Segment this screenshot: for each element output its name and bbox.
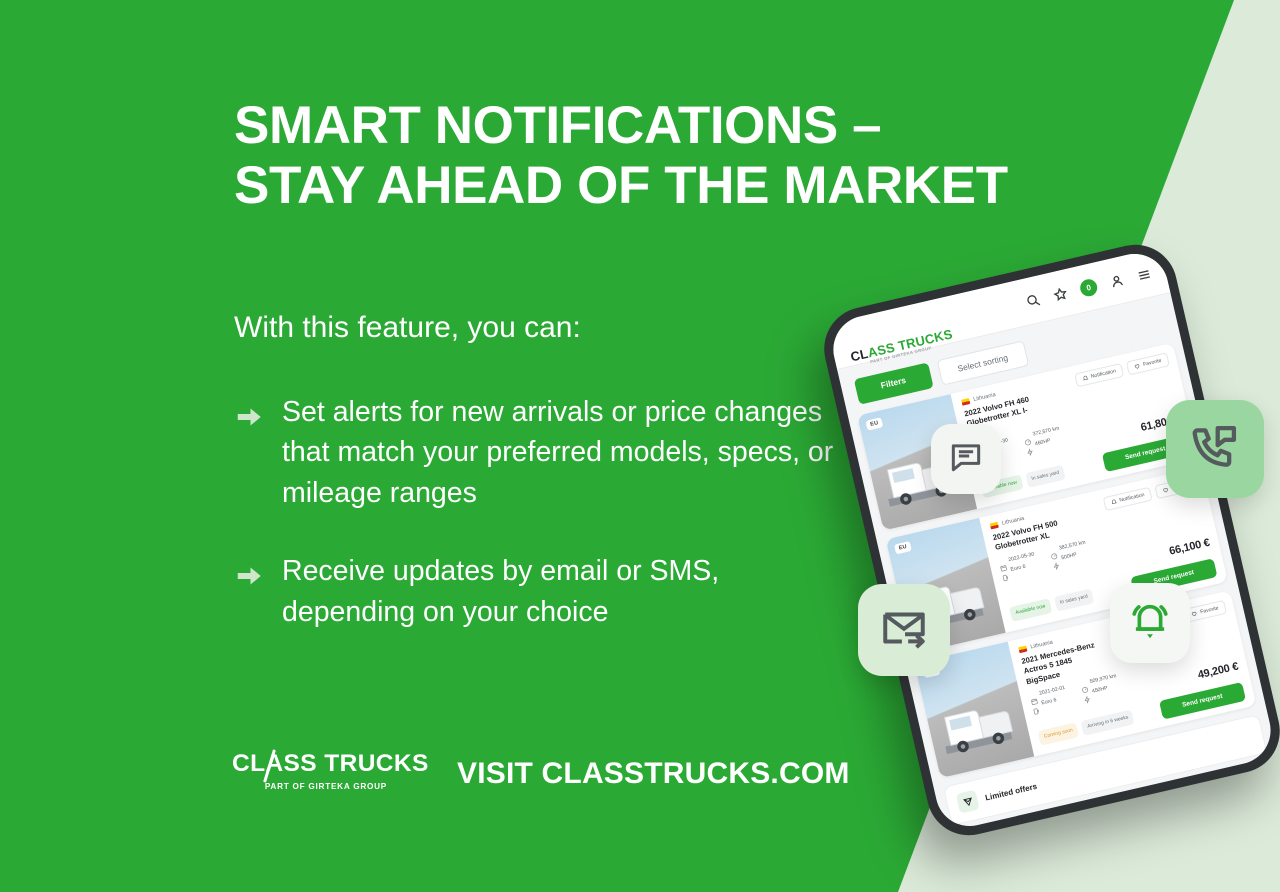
profile-icon[interactable] bbox=[1108, 272, 1126, 290]
location-badge: In sales yard bbox=[1025, 465, 1066, 488]
footer: CLASS TRUCKS PART OF GIRTEKA GROUP VISIT… bbox=[232, 752, 850, 796]
cart-badge[interactable]: 0 bbox=[1078, 277, 1098, 297]
power-icon bbox=[1051, 556, 1059, 564]
phone-call-icon bbox=[1188, 420, 1242, 479]
listing-country: Lithuania bbox=[1030, 640, 1053, 651]
headline-line-1: SMART NOTIFICATIONS – bbox=[234, 96, 881, 155]
country-flag-icon bbox=[961, 398, 970, 406]
truck-illustration bbox=[928, 688, 1025, 764]
bullet-text: Set alerts for new arrivals or price cha… bbox=[282, 392, 854, 513]
lead-text: With this feature, you can: bbox=[234, 308, 581, 347]
favorites-star-icon[interactable] bbox=[1051, 285, 1069, 303]
image-tag: EU bbox=[865, 417, 883, 430]
chip-label: Favorite bbox=[1143, 358, 1163, 368]
sms-chat-icon bbox=[947, 438, 985, 481]
heart-icon bbox=[1162, 486, 1169, 493]
heart-icon bbox=[1191, 610, 1198, 617]
email-send-icon bbox=[879, 603, 929, 658]
odometer-icon bbox=[1022, 432, 1030, 440]
chip-label: Favorite bbox=[1200, 605, 1220, 615]
fuel-icon bbox=[1031, 701, 1039, 709]
list-item: Receive updates by email or SMS, dependi… bbox=[234, 551, 854, 632]
send-request-button[interactable]: Send request bbox=[1159, 682, 1246, 720]
notification-chip[interactable]: Notification bbox=[1102, 487, 1153, 512]
search-icon[interactable] bbox=[1024, 291, 1042, 309]
bell-icon bbox=[1081, 375, 1088, 382]
chip-label: Notification bbox=[1090, 368, 1116, 380]
arrival-badge: Arriving in 6 weeks bbox=[1081, 710, 1135, 736]
bullet-list: Set alerts for new arrivals or price cha… bbox=[234, 392, 854, 632]
notification-chip[interactable]: Notification bbox=[1074, 363, 1125, 388]
odometer-icon bbox=[1079, 680, 1087, 688]
spec-value: 450HP bbox=[1092, 685, 1109, 695]
logo-wordmark: CLASS TRUCKS bbox=[232, 752, 387, 777]
spec-value: Euro 6 bbox=[1041, 697, 1057, 707]
listing-price: 49,200 € bbox=[1197, 661, 1240, 682]
image-tag: EU bbox=[894, 541, 912, 554]
promo-banner: SMART NOTIFICATIONS – STAY AHEAD OF THE … bbox=[0, 0, 1280, 892]
arrow-right-icon bbox=[234, 402, 264, 432]
country-flag-icon bbox=[990, 522, 999, 530]
list-item: Set alerts for new arrivals or price cha… bbox=[234, 392, 854, 513]
hamburger-menu-icon[interactable] bbox=[1135, 265, 1153, 283]
filters-button[interactable]: Filters bbox=[854, 362, 933, 404]
listing-country: Lithuania bbox=[1001, 516, 1024, 527]
notification-bell-icon bbox=[1128, 599, 1172, 648]
calendar-icon bbox=[998, 558, 1006, 566]
phone-call-tile bbox=[1166, 400, 1264, 498]
availability-badge: Available now bbox=[1009, 599, 1052, 622]
location-badge: In sales yard bbox=[1054, 589, 1095, 612]
power-icon bbox=[1082, 689, 1090, 697]
spec-value: 500HP bbox=[1061, 552, 1078, 562]
spec-value: 460HP bbox=[1034, 438, 1051, 448]
calendar-icon bbox=[1029, 691, 1037, 699]
bell-icon bbox=[1110, 499, 1117, 506]
odometer-icon bbox=[1049, 546, 1057, 554]
visit-url-text: VISIT CLASSTRUCKS.COM bbox=[457, 757, 850, 791]
page-title: SMART NOTIFICATIONS – STAY AHEAD OF THE … bbox=[234, 96, 1034, 217]
fuel-icon bbox=[1000, 567, 1008, 575]
listing-country: Lithuania bbox=[973, 392, 996, 403]
notification-bell-tile bbox=[1110, 583, 1190, 663]
logo-tagline: PART OF GIRTEKA GROUP bbox=[232, 782, 387, 791]
classtrucks-logo: CLASS TRUCKS PART OF GIRTEKA GROUP bbox=[232, 752, 387, 796]
bullet-text: Receive updates by email or SMS, dependi… bbox=[282, 551, 854, 632]
chip-label: Notification bbox=[1119, 492, 1145, 504]
email-send-tile bbox=[858, 584, 950, 676]
arrow-right-icon bbox=[234, 561, 264, 591]
limited-offers-tag-icon bbox=[956, 790, 980, 814]
listing-price: 66,100 € bbox=[1168, 537, 1211, 558]
availability-badge: Coming soon bbox=[1038, 723, 1080, 746]
spec-value: Euro 6 bbox=[1010, 564, 1026, 574]
sms-chat-tile bbox=[931, 424, 1001, 494]
country-flag-icon bbox=[1018, 646, 1027, 654]
limited-offers-label: Limited offers bbox=[984, 781, 1038, 802]
favorite-chip[interactable]: Favorite bbox=[1126, 352, 1170, 375]
headline-line-2: STAY AHEAD OF THE MARKET bbox=[234, 156, 1034, 216]
heart-icon bbox=[1134, 363, 1141, 370]
power-icon bbox=[1025, 442, 1033, 450]
copy-column: SMART NOTIFICATIONS – STAY AHEAD OF THE … bbox=[234, 96, 1034, 217]
